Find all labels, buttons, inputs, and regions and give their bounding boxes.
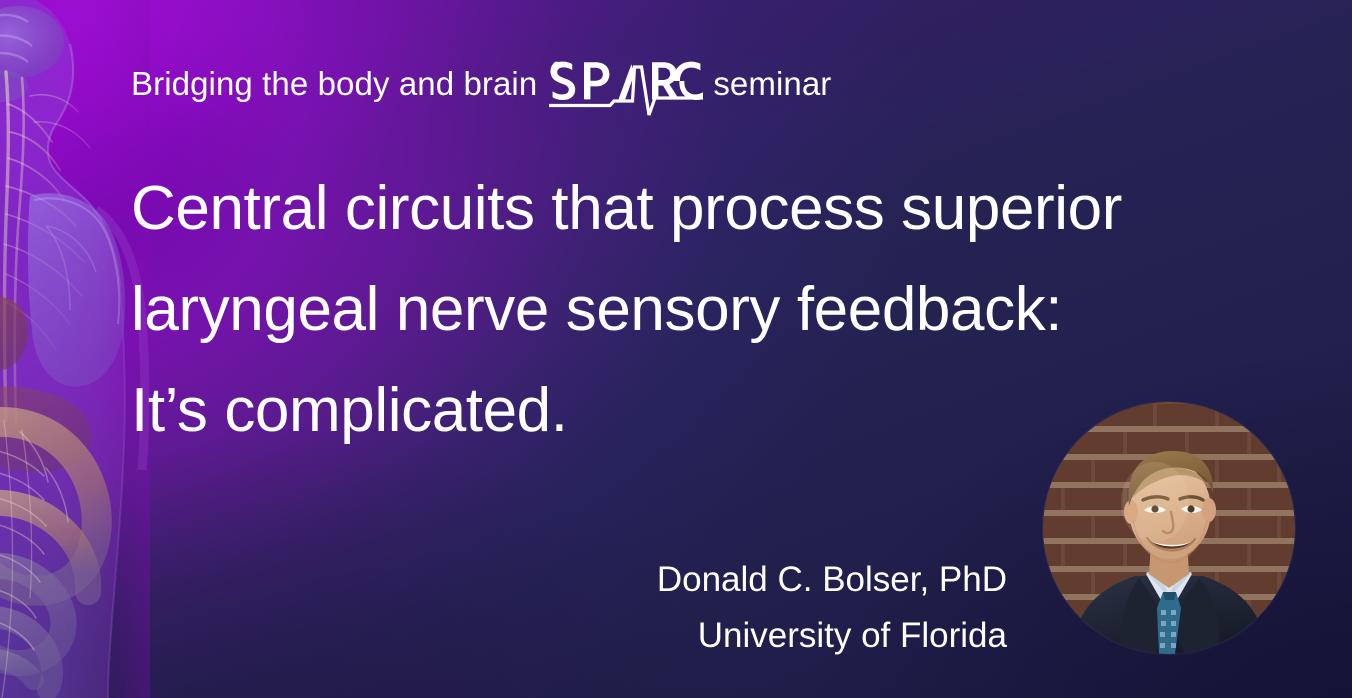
header-line: Bridging the body and brain <box>131 52 831 114</box>
header-lead-text: Bridging the body and brain <box>131 67 537 100</box>
speaker-affiliation: University of Florida <box>657 608 1007 664</box>
seminar-announcement-slide: Bridging the body and brain <box>0 0 1352 698</box>
speaker-info: Donald C. Bolser, PhD University of Flor… <box>657 552 1007 664</box>
anatomy-illustration <box>0 0 150 698</box>
sparc-logo-icon <box>548 54 704 116</box>
title-line-2: laryngeal nerve sensory feedback: <box>131 259 1346 360</box>
speaker-portrait-avatar <box>1043 402 1295 654</box>
speaker-name: Donald C. Bolser, PhD <box>657 552 1007 608</box>
header-trail-text: seminar <box>713 67 831 100</box>
title-line-1: Central circuits that process superior <box>131 158 1346 259</box>
